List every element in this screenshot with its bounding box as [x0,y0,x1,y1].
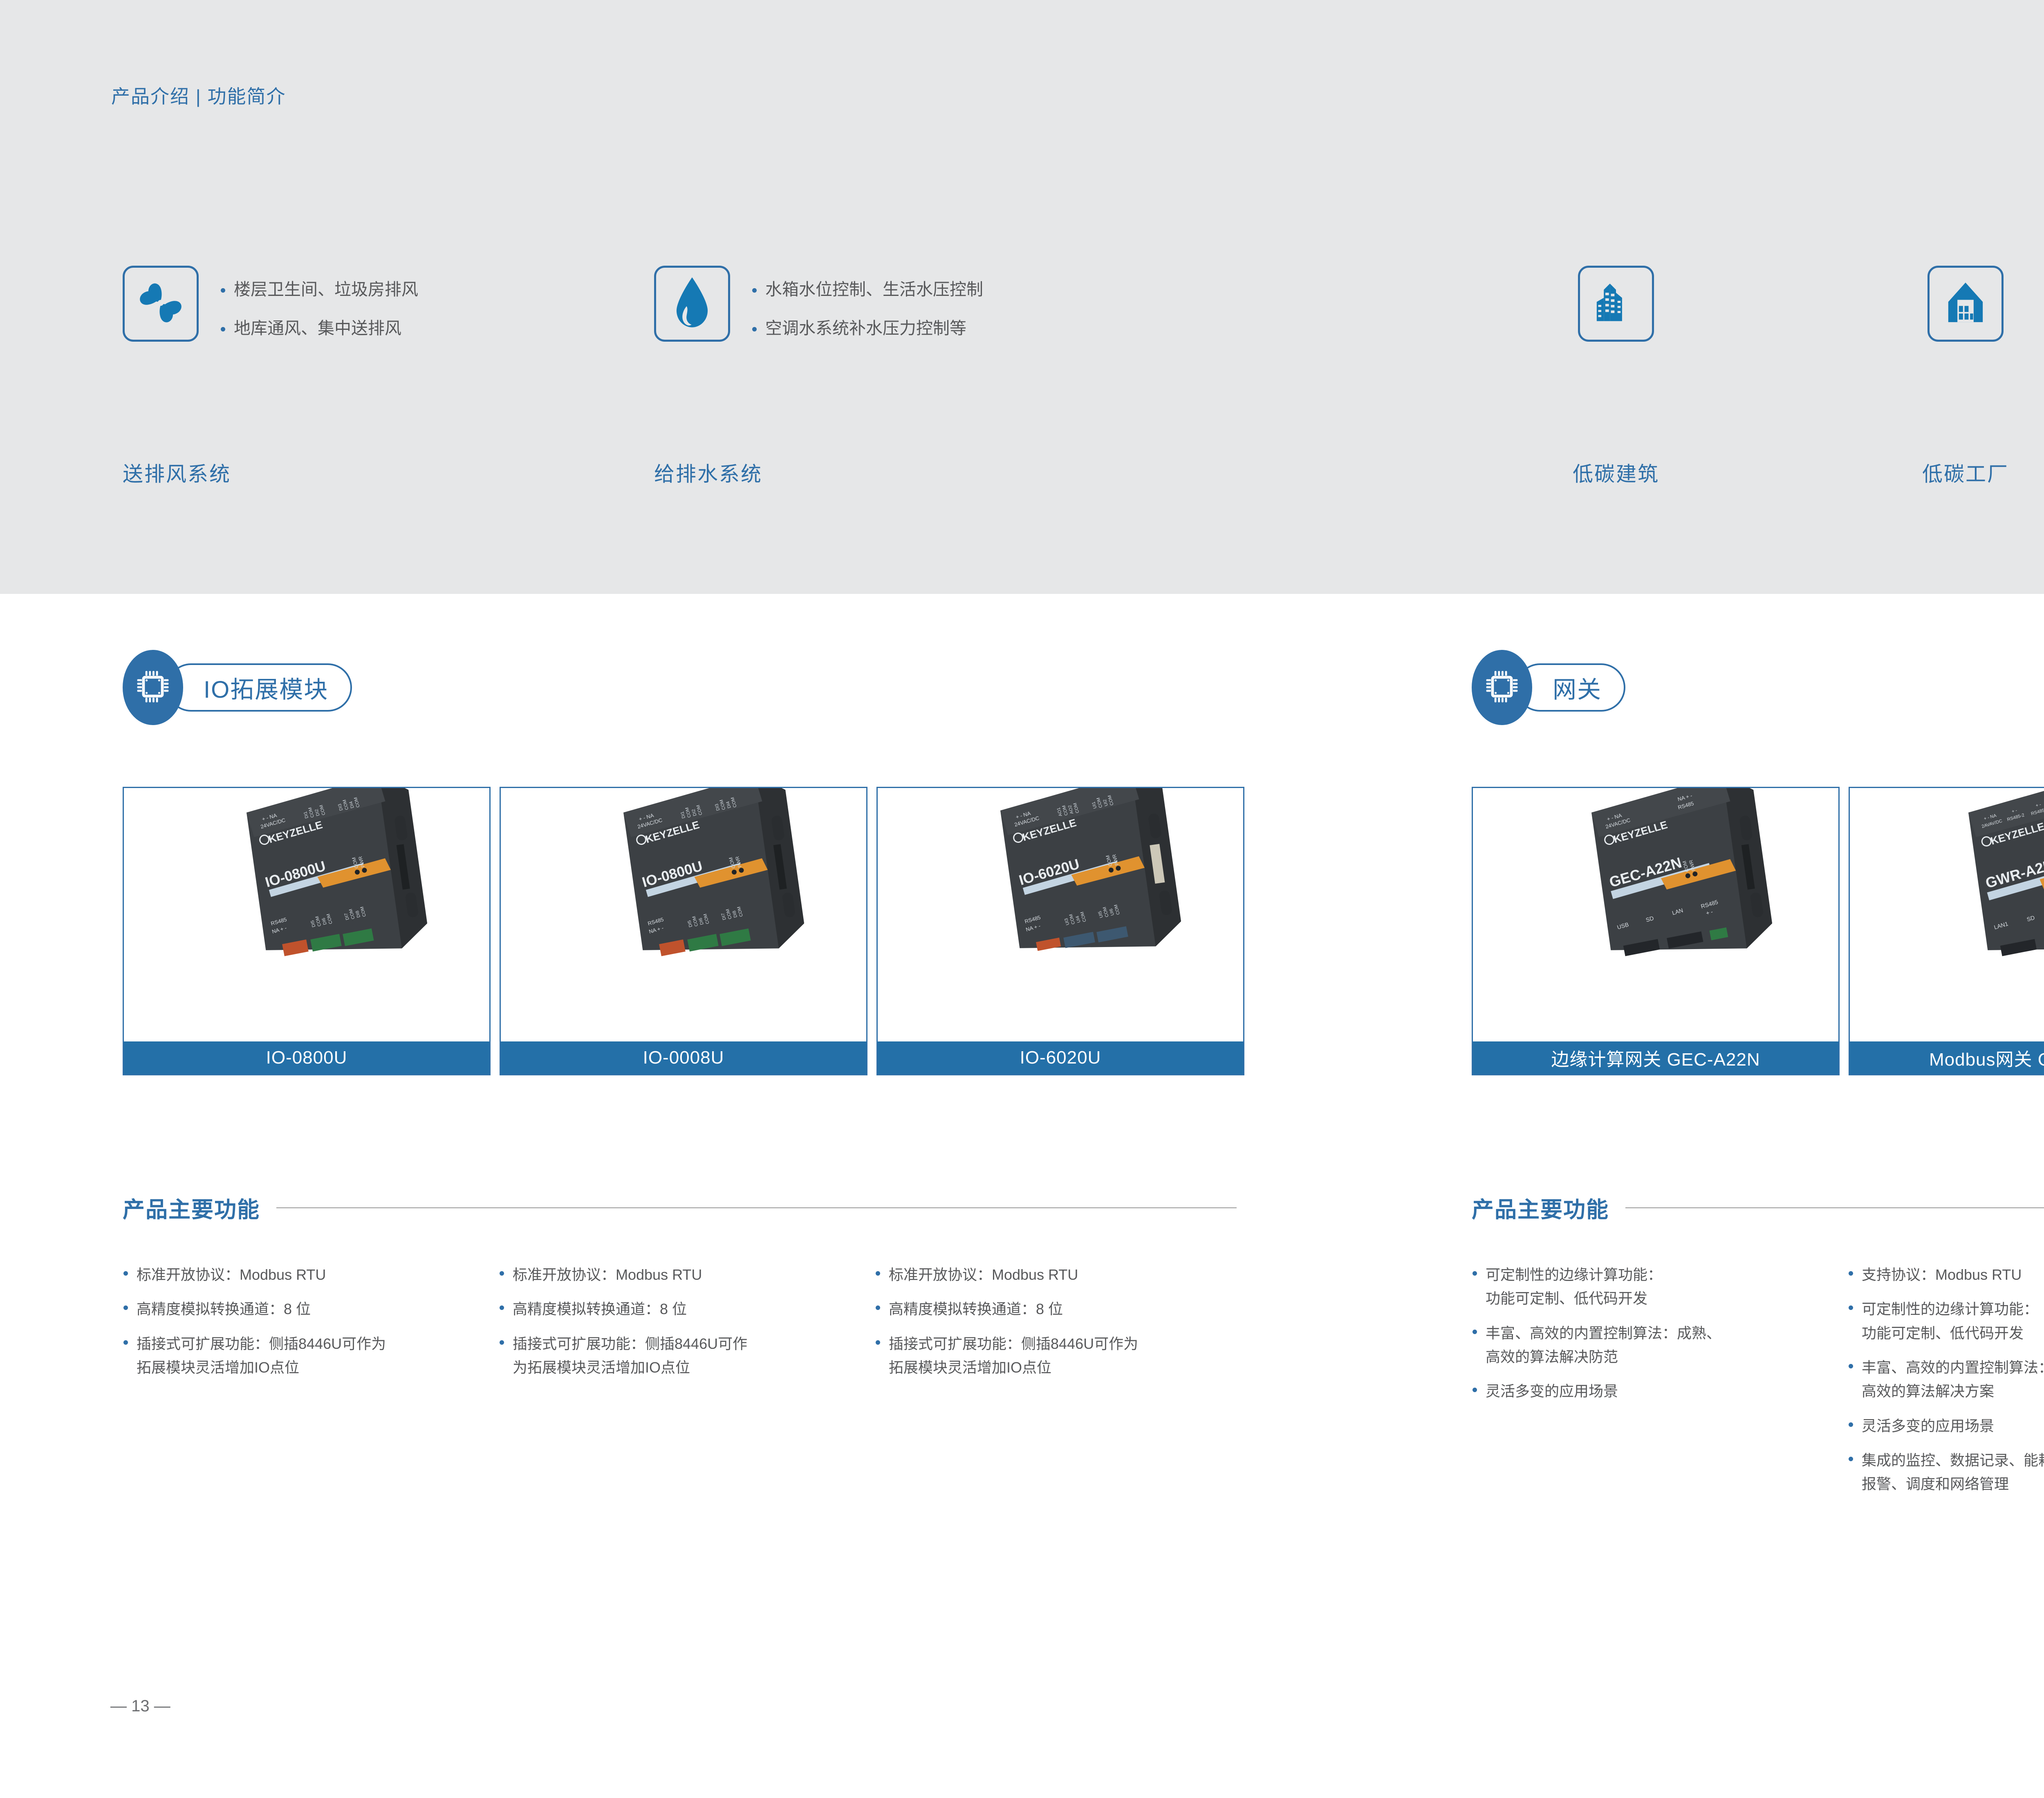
feature-block-plumbing: 水箱水位控制、生活水压控制 空调水系统补水压力控制等 [654,266,983,359]
section-title-io-modules: IO拓展模块 [204,670,328,705]
product-card[interactable]: + - NA 24VAC/DC DI1 COM DI2 COM DI3 COM … [500,787,867,1075]
office-building-icon [1591,278,1641,330]
icon-block-low-carbon-factory: 低碳工厂 [1927,266,2004,342]
product-label-bar: 边缘计算网关 GEC-A22N [1473,1041,1838,1074]
function-column: 标准开放协议：Modbus RTU 高精度模拟转换通道：8 位 插接式可扩展功能… [499,1263,875,1390]
product-name: 边缘计算网关 GEC-A22N [1551,1045,1760,1071]
list-item: 集成的监控、数据记录、能耗计量、 报警、调度和网络管理 [1848,1449,2044,1496]
fan-icon [134,276,188,332]
product-card[interactable]: + - NA 24VAC/DC AO1 COM AO2 COM UI1 COM … [876,787,1244,1075]
product-name: Modbus网关 GWR-A25N [1929,1045,2044,1071]
list-item: 空调水系统补水压力控制等 [752,320,983,337]
function-column: 可定制性的边缘计算功能： 功能可定制、低代码开发 丰富、高效的内置控制算法：成熟… [1472,1263,1848,1507]
office-building-icon-box [1578,266,1654,342]
functions-heading-io-modules: 产品主要功能 [123,1191,1237,1224]
list-item: 高精度模拟转换通道：8 位 [499,1297,875,1321]
list-item: 高精度模拟转换通道：8 位 [875,1297,1251,1321]
product-name: IO-0008U [643,1048,724,1068]
product-name: IO-0800U [266,1048,347,1068]
low-carbon-building-caption: 低碳建筑 [1573,458,1659,487]
section-title-gateways: 网关 [1553,670,1602,705]
list-item: 可定制性的边缘计算功能： 功能可定制、低代码开发 [1848,1297,2044,1345]
product-image: + - NA 24VAC/DC DI1 COM DI2 COM DI3 COM … [501,788,866,1041]
running-head-left: 产品介绍 | 功能简介 [111,82,286,109]
list-item: 支持协议：Modbus RTU [1848,1263,2044,1287]
list-item: 插接式可扩展功能：侧插8446U可作为 拓展模块灵活增加IO点位 [123,1332,499,1380]
factory-icon-box [1927,266,2004,342]
low-carbon-factory-caption: 低碳工厂 [1922,458,2009,487]
factory-icon [1940,278,1991,330]
functions-heading-gateways: 产品主要功能 [1472,1191,2044,1224]
functions-heading-text: 产品主要功能 [123,1191,260,1224]
chip-icon [1482,667,1522,708]
product-card[interactable]: + - NA 24VAC/DC DI1 COM DI2 COM DI3 COM … [123,787,491,1075]
list-item: 标准开放协议：Modbus RTU [875,1263,1251,1287]
product-label-bar: Modbus网关 GWR-A25N [1850,1041,2044,1074]
function-columns-io-modules: 标准开放协议：Modbus RTU 高精度模拟转换通道：8 位 插接式可扩展功能… [123,1263,1251,1390]
heading-rule [1625,1207,2044,1208]
chip-icon [133,667,173,708]
product-image: + - NA 24VAC/DC DI1 COM DI2 COM DI3 COM … [124,788,489,1041]
function-column: 支持协议：Modbus RTU 可定制性的边缘计算功能： 功能可定制、低代码开发… [1848,1263,2044,1507]
list-item: 灵活多变的应用场景 [1472,1379,1848,1403]
fan-icon-box [123,266,199,342]
water-drop-icon-box [654,266,730,342]
product-card-list-io-modules: + - NA 24VAC/DC DI1 COM DI2 COM DI3 COM … [123,787,1244,1075]
chip-icon-circle [123,650,183,725]
list-item: 插接式可扩展功能：侧插8446U可作 为拓展模块灵活增加IO点位 [499,1332,875,1380]
product-name: IO-6020U [1020,1048,1101,1068]
ventilation-caption: 送排风系统 [123,458,231,487]
product-card-list-gateways: + - NA 24VAC/DC NA + - RS485 GEC-A22N KE… [1472,787,2044,1075]
list-item: 楼层卫生间、垃圾房排风 [221,281,418,298]
product-image: + - NA 24VAC/DC NA + - RS485 GEC-A22N KE… [1473,788,1838,1041]
list-item: 插接式可扩展功能：侧插8446U可作为 拓展模块灵活增加IO点位 [875,1332,1251,1380]
product-image: + - NA 2AVAV/DC + - RS485-2 + - RS485-3 … [1850,788,2044,1041]
product-image: + - NA 24VAC/DC AO1 COM AO2 COM UI1 COM … [878,788,1243,1041]
list-item: 水箱水位控制、生活水压控制 [752,281,983,298]
section-title-pill-io-modules: IO拓展模块 [167,663,352,712]
list-item: 丰富、高效的内置控制算法：成熟、 高效的算法解决防范 [1472,1321,1848,1369]
product-label-bar: IO-6020U [878,1041,1243,1074]
plumbing-bullet-list: 水箱水位控制、生活水压控制 空调水系统补水压力控制等 [752,266,983,359]
page-number-left: — 13 — [110,1697,170,1715]
list-item: 标准开放协议：Modbus RTU [123,1263,499,1287]
product-card[interactable]: + - NA 2AVAV/DC + - RS485-2 + - RS485-3 … [1849,787,2044,1075]
list-item: 丰富、高效的内置控制算法：成熟、 高效的算法解决方案 [1848,1356,2044,1404]
feature-block-ventilation: 楼层卫生间、垃圾房排风 地库通风、集中送排风 [123,266,418,359]
section-title-pill-gateways: 网关 [1516,663,1625,712]
product-label-bar: IO-0800U [124,1041,489,1074]
function-columns-gateways: 可定制性的边缘计算功能： 功能可定制、低代码开发 丰富、高效的内置控制算法：成熟… [1472,1263,2044,1507]
section-badge-gateways: 网关 [1472,650,1625,725]
plumbing-caption: 给排水系统 [654,458,762,487]
list-item: 地库通风、集中送排风 [221,320,418,337]
list-item: 灵活多变的应用场景 [1848,1414,2044,1438]
function-column: 标准开放协议：Modbus RTU 高精度模拟转换通道：8 位 插接式可扩展功能… [123,1263,499,1390]
product-label-bar: IO-0008U [501,1041,866,1074]
function-column: 标准开放协议：Modbus RTU 高精度模拟转换通道：8 位 插接式可扩展功能… [875,1263,1251,1390]
icon-block-low-carbon-building: 低碳建筑 [1578,266,1654,342]
list-item: 高精度模拟转换通道：8 位 [123,1297,499,1321]
list-item: 可定制性的边缘计算功能： 功能可定制、低代码开发 [1472,1263,1848,1311]
list-item: 标准开放协议：Modbus RTU [499,1263,875,1287]
functions-heading-text: 产品主要功能 [1472,1191,1609,1224]
water-drop-icon [668,275,717,333]
heading-rule [276,1207,1237,1208]
chip-icon-circle [1472,650,1532,725]
section-badge-io-modules: IO拓展模块 [123,650,352,725]
ventilation-bullet-list: 楼层卫生间、垃圾房排风 地库通风、集中送排风 [221,266,418,359]
product-card[interactable]: + - NA 24VAC/DC NA + - RS485 GEC-A22N KE… [1472,787,1840,1075]
